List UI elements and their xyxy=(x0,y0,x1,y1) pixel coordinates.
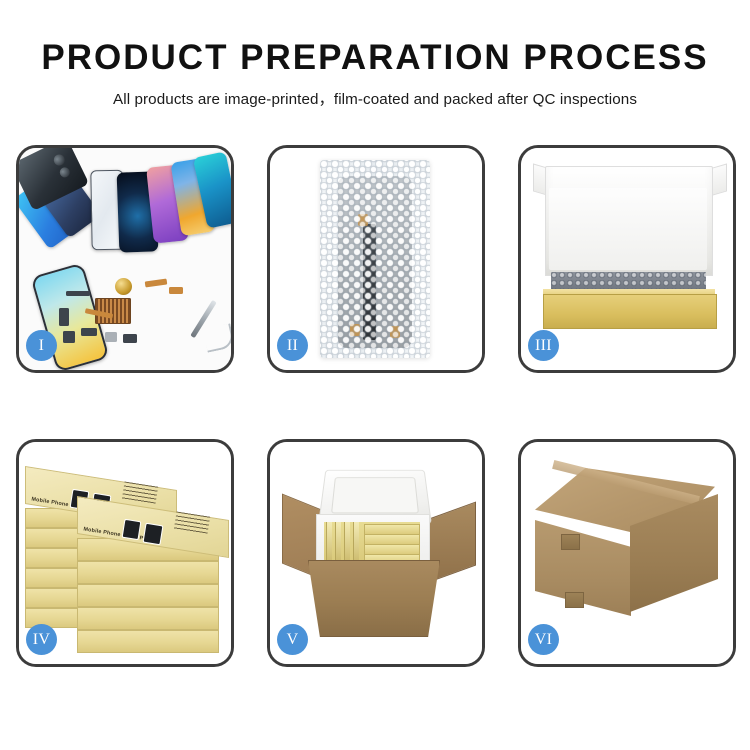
yellow-box-edge xyxy=(326,522,332,564)
yellow-box-edge xyxy=(335,522,341,564)
camera-module-part xyxy=(63,331,75,343)
camera-lens-icon xyxy=(52,153,67,168)
panel-badge-2: II xyxy=(277,330,308,361)
yellow-boxes-group xyxy=(324,522,420,564)
panel-badge-1: I xyxy=(26,330,57,361)
panel-badge-5: V xyxy=(277,624,308,655)
yellow-box-edge xyxy=(353,522,359,564)
carton-flap-tab xyxy=(565,592,584,608)
small-part-strip xyxy=(66,291,90,296)
flex-cable-part xyxy=(145,278,168,287)
process-panel-grid: I II III xyxy=(16,145,736,667)
process-panel-1: I xyxy=(16,145,234,373)
process-panel-3: III xyxy=(518,145,736,373)
process-panel-2: II xyxy=(267,145,485,373)
box-front-face xyxy=(543,294,717,329)
stacked-box xyxy=(77,561,219,584)
battery-connector-part xyxy=(123,334,137,343)
process-panel-4: Mobile Phone Spare Parts Mobile Phone Sp… xyxy=(16,439,234,667)
tweezers-tool xyxy=(203,323,231,352)
panel-badge-3: III xyxy=(528,330,559,361)
process-panel-6: VI xyxy=(518,439,736,667)
camera-lens-icon xyxy=(58,166,71,179)
bracket-part xyxy=(59,308,69,326)
carton-flap-tab xyxy=(561,534,580,550)
speaker-part xyxy=(105,332,117,342)
gold-vibrator-part xyxy=(115,278,132,295)
panel-badge-6: VI xyxy=(528,624,559,655)
foam-sheet xyxy=(549,188,707,270)
stacked-box xyxy=(77,607,219,630)
carton-front-face xyxy=(308,560,440,637)
connector-part xyxy=(169,287,183,294)
process-panel-5: V xyxy=(267,439,485,667)
box-lid-window xyxy=(122,519,142,540)
yellow-box-edge xyxy=(344,522,350,564)
foam-lid-recess xyxy=(331,477,419,513)
page-subtitle: All products are image-printed，film-coat… xyxy=(0,77,750,109)
chip-part xyxy=(81,328,97,336)
bubble-texture-overlay xyxy=(320,160,430,358)
box-lid-window xyxy=(143,523,164,546)
bubble-wrap-bag xyxy=(320,160,430,358)
stacked-box xyxy=(77,630,219,653)
panel-badge-4: IV xyxy=(26,624,57,655)
stacked-box xyxy=(77,584,219,607)
page-header: PRODUCT PREPARATION PROCESS All products… xyxy=(0,0,750,109)
page-title: PRODUCT PREPARATION PROCESS xyxy=(0,0,750,77)
